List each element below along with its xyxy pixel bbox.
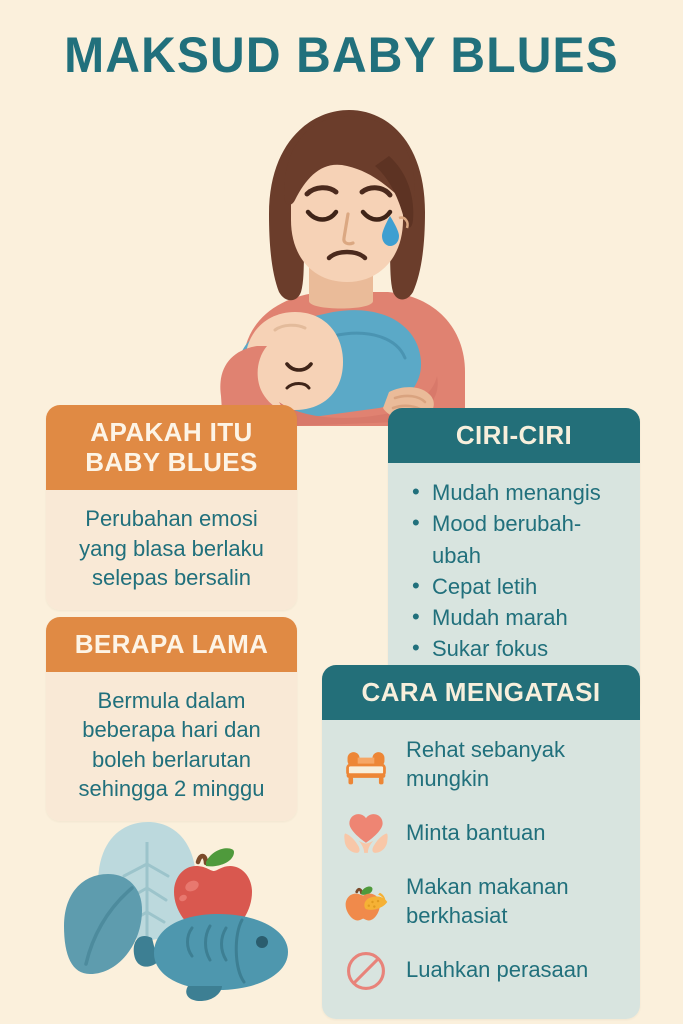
- card-berapa-lama: BERAPA LAMA Bermula dalam beberapa hari …: [46, 617, 297, 821]
- card-header-apakah: APAKAH ITU BABY BLUES: [46, 405, 297, 490]
- list-item: Mudah marah: [410, 602, 624, 633]
- cara-item-label: Makan makanan berkhasiat: [406, 873, 626, 930]
- list-item: Sukar fokus: [410, 633, 624, 664]
- bed-icon: [340, 741, 392, 789]
- card-body-berapa: Bermula dalam beberapa hari dan boleh be…: [46, 672, 297, 821]
- list-item: Luahkan perasaan: [340, 947, 626, 995]
- card-header-line-1: APAKAH ITU: [56, 417, 287, 447]
- cara-item-label: Rehat sebanyak mungkin: [406, 736, 626, 793]
- list-item: Rehat sebanyak mungkin: [340, 736, 626, 793]
- card-apakah-itu-baby-blues: APAKAH ITU BABY BLUES Perubahan emosi ya…: [46, 405, 297, 610]
- card-header-ciri: CIRI-CIRI: [388, 408, 640, 463]
- cara-item-label: Luahkan perasaan: [406, 956, 588, 985]
- healthy-food-illustration: [56, 818, 336, 1003]
- list-item: Mood berubah-ubah: [410, 508, 624, 570]
- cara-list: Rehat sebanyak mungkin Minta bantuan: [322, 720, 640, 1018]
- sad-mother-holding-baby-illustration: [183, 96, 503, 426]
- list-item: Minta bantuan: [340, 809, 626, 857]
- card-body-cara: Rehat sebanyak mungkin Minta bantuan: [322, 720, 640, 1018]
- cara-item-label: Minta bantuan: [406, 819, 545, 848]
- prohibited-icon: [340, 947, 392, 995]
- list-item: Makan makanan berkhasiat: [340, 873, 626, 930]
- card-header-berapa: BERAPA LAMA: [46, 617, 297, 672]
- heart-in-hands-icon: [340, 809, 392, 857]
- card-cara-mengatasi: CARA MENGATASI Rehat sebanyak mu: [322, 665, 640, 1019]
- list-item: Cepat letih: [410, 571, 624, 602]
- apple-carrot-icon: [340, 878, 392, 926]
- list-item: Mudah menangis: [410, 477, 624, 508]
- card-header-cara: CARA MENGATASI: [322, 665, 640, 720]
- card-header-line-2: BABY BLUES: [56, 447, 287, 477]
- page-title: MAKSUD BABY BLUES: [14, 26, 670, 84]
- card-body-apakah: Perubahan emosi yang blasa berlaku selep…: [46, 490, 297, 610]
